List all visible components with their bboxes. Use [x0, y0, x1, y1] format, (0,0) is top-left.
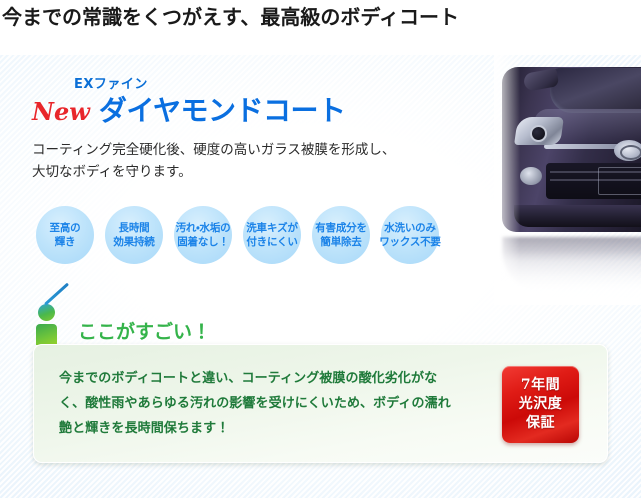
- badge-line-1: 有害成分を: [315, 221, 367, 235]
- feature-badge: 汚れ・水垢の 固着なし！: [174, 206, 232, 264]
- badge-line-2: 輝き: [50, 235, 81, 249]
- guarantee-badge: 7年間 光沢度 保証: [502, 366, 579, 443]
- badge-line-1: 汚れ・水垢の: [176, 221, 231, 235]
- great-body-line-3: 艶と輝きを長時間保ちます！: [59, 416, 514, 441]
- car-emblem-icon: [614, 140, 641, 161]
- person-head-icon: [38, 304, 55, 321]
- badge-line-1: 水洗いのみ: [379, 221, 441, 235]
- badge-line-2: 固着なし！: [176, 235, 231, 249]
- new-tag: New: [32, 97, 90, 127]
- photo-bottom-fade: [494, 251, 641, 305]
- great-section-heading: ここがすごい！: [33, 298, 211, 346]
- guarantee-line-2: 光沢度: [519, 395, 563, 414]
- presenter-person-icon: [33, 300, 75, 346]
- feature-badge-label: 有害成分を 簡単除去: [315, 221, 367, 249]
- feature-badge: 水洗いのみ ワックス不要: [381, 206, 439, 264]
- great-body-text: 今までのボディコートと違い、コーティング被膜の酸化劣化がな く、酸性雨やあらゆる…: [59, 366, 514, 441]
- badge-line-1: 至高の: [50, 221, 81, 235]
- product-eyebrow: EXファイン: [74, 77, 462, 93]
- pointer-stick-icon: [44, 283, 69, 306]
- car-front-bumper: [514, 205, 641, 227]
- main-panel: EXファイン New ダイヤモンドコート コーティング完全硬化後、硬度の高いガラ…: [0, 55, 641, 498]
- great-body-line-1: 今までのボディコートと違い、コーティング被膜の酸化劣化がな: [59, 366, 514, 391]
- product-lede-line-2: 大切なボディを守ります。: [32, 161, 462, 183]
- car-windshield: [550, 68, 641, 113]
- great-section-title: ここがすごい！: [78, 321, 211, 343]
- badge-line-1: 長時間: [113, 221, 154, 235]
- car-headlight-bulb: [530, 125, 547, 142]
- feature-badge-label: 洗車キズが 付きにくい: [246, 221, 298, 249]
- product-title-block: EXファイン New ダイヤモンドコート コーティング完全硬化後、硬度の高いガラ…: [32, 77, 462, 183]
- feature-badge-label: 水洗いのみ ワックス不要: [379, 221, 441, 249]
- feature-badge-label: 汚れ・水垢の 固着なし！: [176, 221, 231, 249]
- product-lede-line-1: コーティング完全硬化後、硬度の高いガラス被膜を形成し、: [32, 139, 462, 161]
- page-header: 今までの常識をくつがえす、最高級のボディコート: [0, 0, 641, 55]
- feature-badge-label: 至高の 輝き: [50, 221, 81, 249]
- page-title: 今までの常識をくつがえす、最高級のボディコート: [2, 3, 641, 31]
- guarantee-line-3: 保証: [526, 414, 555, 433]
- feature-badge: 有害成分を 簡単除去: [312, 206, 370, 264]
- badge-line-2: 付きにくい: [246, 235, 298, 249]
- guarantee-line-1: 7年間: [521, 376, 560, 395]
- badge-line-2: ワックス不要: [379, 235, 441, 249]
- minivan-front-photo: [494, 55, 641, 305]
- promo-page: 今までの常識をくつがえす、最高級のボディコート: [0, 0, 641, 498]
- badge-line-1: 洗車キズが: [246, 221, 298, 235]
- feature-badge: 洗車キズが 付きにくい: [243, 206, 301, 264]
- car-fog-lamp: [520, 167, 542, 185]
- feature-badge-list: 至高の 輝き 長時間 効果持続 汚れ・水垢の 固着なし！ 洗車キズが: [36, 206, 439, 264]
- person-body-icon: [36, 324, 57, 345]
- badge-line-2: 簡単除去: [315, 235, 367, 249]
- feature-badge-label: 長時間 効果持続: [113, 221, 154, 249]
- product-title-row: New ダイヤモンドコート: [32, 94, 462, 128]
- car-license-plate-area: [598, 167, 641, 195]
- product-lede: コーティング完全硬化後、硬度の高いガラス被膜を形成し、 大切なボディを守ります。: [32, 139, 462, 183]
- product-name: ダイヤモンドコート: [99, 94, 346, 128]
- badge-line-2: 効果持続: [113, 235, 154, 249]
- feature-badge: 至高の 輝き: [36, 206, 94, 264]
- feature-badge: 長時間 効果持続: [105, 206, 163, 264]
- great-body-line-2: く、酸性雨やあらゆる汚れの影響を受けにくいため、ボディの濡れ: [59, 391, 514, 416]
